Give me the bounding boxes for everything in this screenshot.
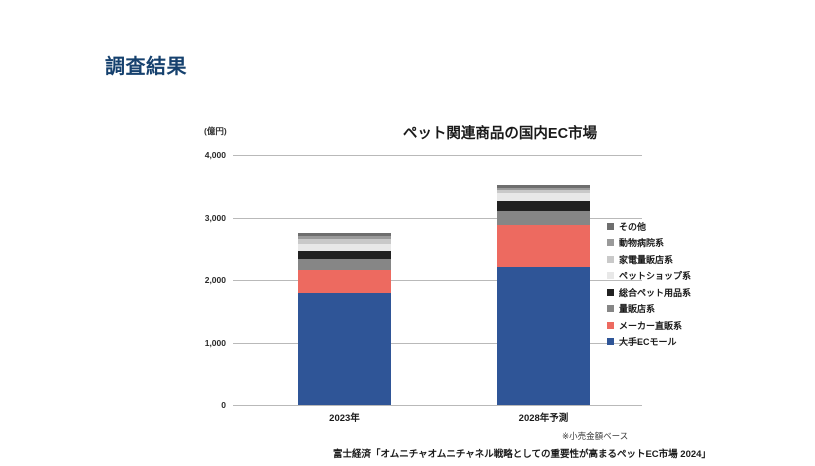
y-axis-unit-label: (億円) xyxy=(204,125,227,137)
chart-title: ペット関連商品の国内EC市場 xyxy=(335,122,665,143)
x-axis-label-1: 2028年予測 xyxy=(497,410,590,424)
bar-segment[interactable] xyxy=(497,211,590,225)
legend-item[interactable]: メーカー直販系 xyxy=(607,317,691,334)
bar-segment[interactable] xyxy=(298,259,391,270)
y-tick-label-4000: 4,000 xyxy=(205,150,226,160)
bar-segment[interactable] xyxy=(497,201,590,211)
page-title: 調査結果 xyxy=(105,50,187,79)
y-tick-label-2000: 2,000 xyxy=(205,275,226,285)
legend-swatch-icon xyxy=(607,223,614,230)
legend-label: 家電量販店系 xyxy=(619,253,673,266)
chart-container: (億円) ペット関連商品の国内EC市場 01,0002,0003,0004,00… xyxy=(195,118,755,448)
legend-item[interactable]: 家電量販店系 xyxy=(607,251,691,268)
legend-swatch-icon xyxy=(607,338,614,345)
legend-swatch-icon xyxy=(607,305,614,312)
legend-item[interactable]: 量販店系 xyxy=(607,301,691,318)
bar-segment[interactable] xyxy=(298,293,391,405)
bar-segment[interactable] xyxy=(497,225,590,267)
legend-swatch-icon xyxy=(607,272,614,279)
y-tick-label-1000: 1,000 xyxy=(205,338,226,348)
legend-swatch-icon xyxy=(607,256,614,263)
gridline-0 xyxy=(233,405,642,406)
chart-legend: その他動物病院系家電量販店系ペットショップ系総合ペット用品系量販店系メーカー直販… xyxy=(607,218,691,350)
bar-segment[interactable] xyxy=(497,193,590,201)
legend-item[interactable]: ペットショップ系 xyxy=(607,268,691,285)
gridline-4000 xyxy=(233,155,642,156)
legend-swatch-icon xyxy=(607,289,614,296)
slide-canvas: 調査結果 (億円) ペット関連商品の国内EC市場 01,0002,0003,00… xyxy=(0,0,815,466)
legend-label: 総合ペット用品系 xyxy=(619,286,691,299)
bar-segment[interactable] xyxy=(497,267,590,405)
plot-area: 01,0002,0003,0004,000 2023年 2028年予測 xyxy=(233,155,642,405)
legend-item[interactable]: その他 xyxy=(607,218,691,235)
legend-swatch-icon xyxy=(607,239,614,246)
note-source: 富士経済「オムニチャオムニチャネル戦略としての重要性が高まるペットEC市場 20… xyxy=(333,446,711,460)
note-retail-basis: ※小売金額ベース xyxy=(562,430,628,442)
legend-item[interactable]: 大手ECモール xyxy=(607,334,691,351)
y-tick-label-0: 0 xyxy=(221,400,226,410)
legend-label: 大手ECモール xyxy=(619,335,677,348)
y-tick-label-3000: 3,000 xyxy=(205,213,226,223)
bar-segment[interactable] xyxy=(298,244,391,251)
bar-segment[interactable] xyxy=(298,251,391,259)
bar-1[interactable] xyxy=(497,185,590,405)
legend-label: ペットショップ系 xyxy=(619,269,691,282)
legend-label: 動物病院系 xyxy=(619,236,664,249)
bar-0[interactable] xyxy=(298,233,391,405)
legend-label: その他 xyxy=(619,220,646,233)
bar-segment[interactable] xyxy=(298,270,391,293)
x-axis-label-0: 2023年 xyxy=(298,410,391,424)
legend-swatch-icon xyxy=(607,322,614,329)
legend-label: 量販店系 xyxy=(619,302,655,315)
legend-item[interactable]: 動物病院系 xyxy=(607,235,691,252)
legend-label: メーカー直販系 xyxy=(619,319,682,332)
legend-item[interactable]: 総合ペット用品系 xyxy=(607,284,691,301)
